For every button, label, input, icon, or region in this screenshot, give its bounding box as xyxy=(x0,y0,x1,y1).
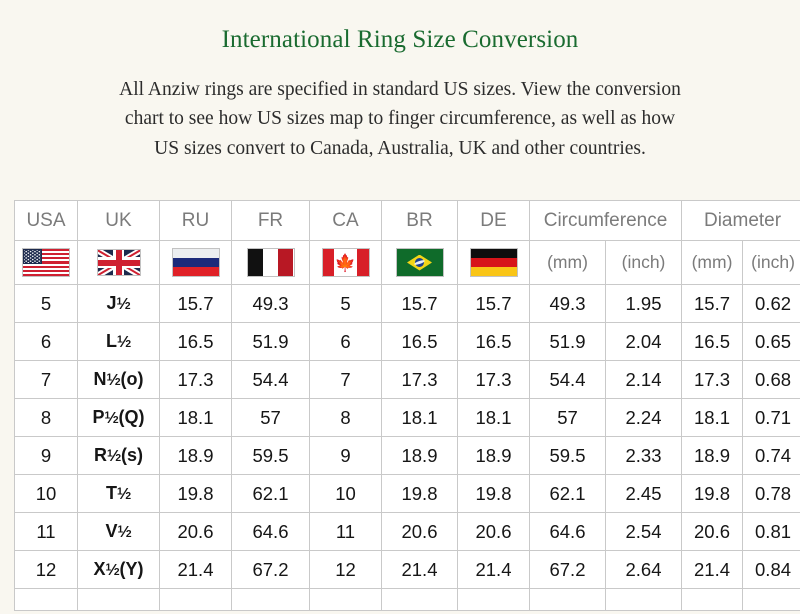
cell-usa: 8 xyxy=(15,399,78,437)
cell-diameter-mm: 15.7 xyxy=(682,285,743,323)
table-row: 7N1⁄2(o)17.354.4717.317.354.42.1417.30.6… xyxy=(15,361,800,399)
cell-uk: T1⁄2 xyxy=(78,475,160,513)
table-row: 5J1⁄215.749.3515.715.749.31.9515.70.62 xyxy=(15,285,800,323)
table-row: 9R1⁄2(s)18.959.5918.918.959.52.3318.90.7… xyxy=(15,437,800,475)
conversion-table-container: USA UK RU FR CA BR DE Circumference Diam… xyxy=(14,200,786,611)
cell-ru: 18.1 xyxy=(160,399,232,437)
cell-circumference-inch: 2.54 xyxy=(606,513,682,551)
cell-ca: 7 xyxy=(310,361,382,399)
flag-usa-icon xyxy=(23,249,69,276)
cell-ca: 6 xyxy=(310,323,382,361)
cell-ca: 10 xyxy=(310,475,382,513)
column-header-ru: RU xyxy=(160,201,232,241)
cell-br: 19.8 xyxy=(382,475,458,513)
cell-diameter-mm: 19.8 xyxy=(682,475,743,513)
cell-diameter-inch: 0.74 xyxy=(743,437,800,475)
cell-circumference-mm: 64.6 xyxy=(530,513,606,551)
column-header-circumference: Circumference xyxy=(530,201,682,241)
cell-diameter-inch: 0.81 xyxy=(743,513,800,551)
maple-leaf-icon: 🍁 xyxy=(335,254,356,271)
cell-uk: V1⁄2 xyxy=(78,513,160,551)
cell-circumference-mm: 54.4 xyxy=(530,361,606,399)
cell-usa: 10 xyxy=(15,475,78,513)
cell-diameter-inch: 0.65 xyxy=(743,323,800,361)
column-header-diameter: Diameter xyxy=(682,201,800,241)
cell-ru: 20.6 xyxy=(160,513,232,551)
cell-circumference-inch: 2.14 xyxy=(606,361,682,399)
page-subtitle: All Anziw rings are specified in standar… xyxy=(39,75,761,164)
column-header-br: BR xyxy=(382,201,458,241)
cell-circumference-mm: 67.2 xyxy=(530,551,606,589)
table-row: 11V1⁄220.664.61120.620.664.62.5420.60.81 xyxy=(15,513,800,551)
cell-uk: P1⁄2(Q) xyxy=(78,399,160,437)
flag-france-icon xyxy=(248,249,294,276)
cell-ca: 8 xyxy=(310,399,382,437)
cell-uk: R1⁄2(s) xyxy=(78,437,160,475)
cell-usa: 11 xyxy=(15,513,78,551)
table-row: 10T1⁄219.862.11019.819.862.12.4519.80.78 xyxy=(15,475,800,513)
cell-empty xyxy=(606,589,682,611)
cell-ru: 17.3 xyxy=(160,361,232,399)
cell-br: 18.1 xyxy=(382,399,458,437)
ring-size-conversion-page: International Ring Size Conversion All A… xyxy=(0,0,800,614)
flag-uk-icon xyxy=(98,250,140,275)
cell-de: 18.1 xyxy=(458,399,530,437)
cell-fr: 49.3 xyxy=(232,285,310,323)
cell-diameter-mm: 21.4 xyxy=(682,551,743,589)
ring-size-conversion-table: USA UK RU FR CA BR DE Circumference Diam… xyxy=(14,200,800,611)
cell-usa: 6 xyxy=(15,323,78,361)
cell-empty xyxy=(232,589,310,611)
cell-circumference-inch: 2.45 xyxy=(606,475,682,513)
cell-empty xyxy=(310,589,382,611)
cell-empty xyxy=(530,589,606,611)
page-title: International Ring Size Conversion xyxy=(0,0,800,54)
cell-fr: 57 xyxy=(232,399,310,437)
usa-canton xyxy=(23,249,42,264)
column-header-usa: USA xyxy=(15,201,78,241)
table-body: 5J1⁄215.749.3515.715.749.31.9515.70.626L… xyxy=(15,285,800,611)
cell-circumference-mm: 59.5 xyxy=(530,437,606,475)
cell-fr: 64.6 xyxy=(232,513,310,551)
cell-de: 19.8 xyxy=(458,475,530,513)
flag-cell-ca: 🍁 xyxy=(310,241,382,285)
column-header-de: DE xyxy=(458,201,530,241)
cell-fr: 54.4 xyxy=(232,361,310,399)
cell-empty xyxy=(15,589,78,611)
subheader-circumference-inch: (inch) xyxy=(606,241,682,285)
cell-usa: 5 xyxy=(15,285,78,323)
cell-fr: 59.5 xyxy=(232,437,310,475)
flag-russia-icon xyxy=(173,249,219,276)
cell-diameter-mm: 18.1 xyxy=(682,399,743,437)
table-row: 8P1⁄2(Q)18.157818.118.1572.2418.10.71 xyxy=(15,399,800,437)
cell-circumference-mm: 51.9 xyxy=(530,323,606,361)
cell-br: 17.3 xyxy=(382,361,458,399)
cell-de: 16.5 xyxy=(458,323,530,361)
cell-uk: X1⁄2(Y) xyxy=(78,551,160,589)
cell-br: 20.6 xyxy=(382,513,458,551)
flag-cell-ru xyxy=(160,241,232,285)
table-row-partial xyxy=(15,589,800,611)
cell-diameter-mm: 18.9 xyxy=(682,437,743,475)
column-header-ca: CA xyxy=(310,201,382,241)
cell-fr: 51.9 xyxy=(232,323,310,361)
cell-circumference-inch: 2.24 xyxy=(606,399,682,437)
subheader-diameter-mm: (mm) xyxy=(682,241,743,285)
cell-de: 15.7 xyxy=(458,285,530,323)
subtitle-line-2: chart to see how US sizes map to finger … xyxy=(39,104,761,134)
cell-diameter-inch: 0.68 xyxy=(743,361,800,399)
cell-circumference-mm: 57 xyxy=(530,399,606,437)
cell-fr: 62.1 xyxy=(232,475,310,513)
table-row: 6L1⁄216.551.9616.516.551.92.0416.50.65 xyxy=(15,323,800,361)
table-header-row: USA UK RU FR CA BR DE Circumference Diam… xyxy=(15,201,800,241)
cell-de: 20.6 xyxy=(458,513,530,551)
cell-diameter-inch: 0.71 xyxy=(743,399,800,437)
cell-ru: 16.5 xyxy=(160,323,232,361)
cell-br: 18.9 xyxy=(382,437,458,475)
cell-de: 18.9 xyxy=(458,437,530,475)
subtitle-line-1: All Anziw rings are specified in standar… xyxy=(39,75,761,105)
cell-diameter-mm: 16.5 xyxy=(682,323,743,361)
cell-circumference-inch: 2.64 xyxy=(606,551,682,589)
subheader-circumference-mm: (mm) xyxy=(530,241,606,285)
column-header-uk: UK xyxy=(78,201,160,241)
flag-cell-fr xyxy=(232,241,310,285)
cell-usa: 7 xyxy=(15,361,78,399)
cell-ru: 15.7 xyxy=(160,285,232,323)
cell-empty xyxy=(160,589,232,611)
cell-circumference-mm: 62.1 xyxy=(530,475,606,513)
cell-ca: 5 xyxy=(310,285,382,323)
cell-usa: 9 xyxy=(15,437,78,475)
cell-usa: 12 xyxy=(15,551,78,589)
cell-uk: N1⁄2(o) xyxy=(78,361,160,399)
cell-de: 17.3 xyxy=(458,361,530,399)
subtitle-line-3: US sizes convert to Canada, Australia, U… xyxy=(39,134,761,164)
flag-cell-de xyxy=(458,241,530,285)
cell-ru: 19.8 xyxy=(160,475,232,513)
flag-canada-icon: 🍁 xyxy=(323,249,369,276)
cell-empty xyxy=(458,589,530,611)
cell-br: 16.5 xyxy=(382,323,458,361)
cell-br: 21.4 xyxy=(382,551,458,589)
cell-diameter-mm: 17.3 xyxy=(682,361,743,399)
cell-diameter-inch: 0.78 xyxy=(743,475,800,513)
cell-diameter-inch: 0.84 xyxy=(743,551,800,589)
cell-ca: 9 xyxy=(310,437,382,475)
cell-ca: 11 xyxy=(310,513,382,551)
cell-uk: J1⁄2 xyxy=(78,285,160,323)
cell-br: 15.7 xyxy=(382,285,458,323)
flag-germany-icon xyxy=(471,249,517,276)
cell-empty xyxy=(382,589,458,611)
cell-fr: 67.2 xyxy=(232,551,310,589)
cell-circumference-inch: 1.95 xyxy=(606,285,682,323)
flag-cell-uk xyxy=(78,241,160,285)
flag-brazil-icon xyxy=(397,249,443,276)
cell-ru: 21.4 xyxy=(160,551,232,589)
flag-cell-br xyxy=(382,241,458,285)
cell-empty xyxy=(682,589,743,611)
cell-empty xyxy=(743,589,800,611)
cell-empty xyxy=(78,589,160,611)
cell-de: 21.4 xyxy=(458,551,530,589)
column-header-fr: FR xyxy=(232,201,310,241)
subheader-diameter-inch: (inch) xyxy=(743,241,800,285)
cell-circumference-inch: 2.04 xyxy=(606,323,682,361)
cell-uk: L1⁄2 xyxy=(78,323,160,361)
cell-diameter-inch: 0.62 xyxy=(743,285,800,323)
table-flag-row: 🍁 (mm) (inch) (mm) xyxy=(15,241,800,285)
cell-circumference-mm: 49.3 xyxy=(530,285,606,323)
cell-ru: 18.9 xyxy=(160,437,232,475)
cell-ca: 12 xyxy=(310,551,382,589)
flag-cell-usa xyxy=(15,241,78,285)
table-row: 12X1⁄2(Y)21.467.21221.421.467.22.6421.40… xyxy=(15,551,800,589)
cell-diameter-mm: 20.6 xyxy=(682,513,743,551)
cell-circumference-inch: 2.33 xyxy=(606,437,682,475)
